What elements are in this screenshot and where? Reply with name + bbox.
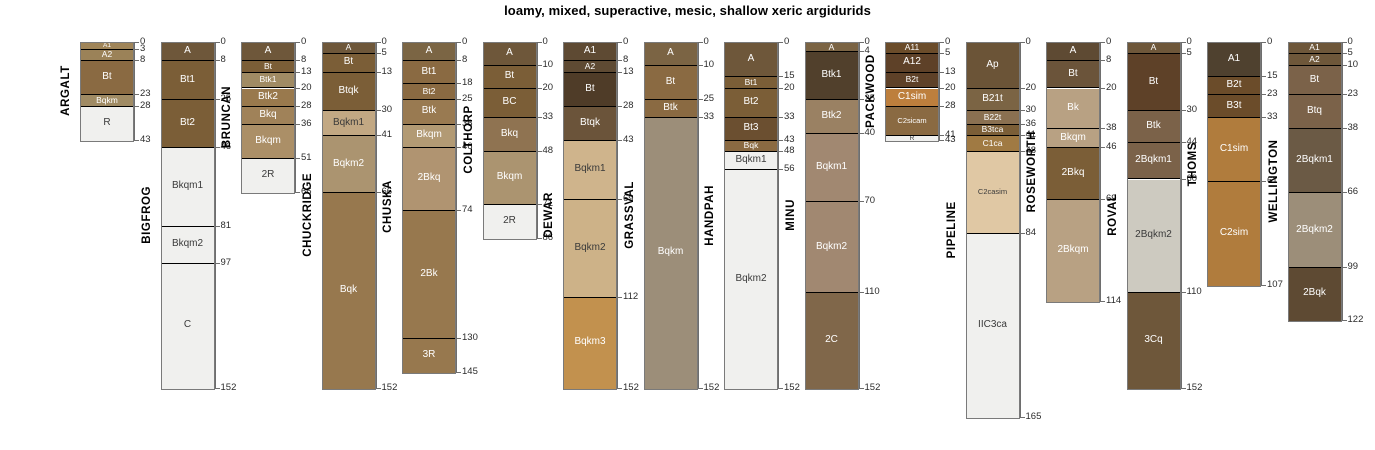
- soil-horizon: 3Cq: [1128, 293, 1180, 389]
- depth-tick: [698, 65, 703, 66]
- depth-tick: [778, 42, 783, 43]
- soil-horizon: 2C: [806, 293, 858, 389]
- depth-tick: [1020, 151, 1025, 152]
- depth-axis: [1181, 42, 1182, 388]
- horizon-label: Bkqm: [484, 172, 536, 182]
- soil-horizon: Bqk: [725, 141, 777, 152]
- soil-horizon: Btk2: [242, 89, 294, 107]
- horizon-label: Bt1: [725, 78, 777, 87]
- depth-tick: [295, 124, 300, 125]
- depth-tick: [537, 204, 542, 205]
- depth-tick: [859, 51, 864, 52]
- soil-horizon: A: [162, 43, 214, 61]
- depth-tick: [939, 135, 944, 136]
- horizon-label: A1: [81, 43, 133, 50]
- profile-column: ABt1Bt2Bt3BqkBqkm1Bqkm2: [724, 42, 778, 390]
- profile-name-label: CHUSKA: [382, 42, 394, 372]
- soil-horizon: B2t: [886, 73, 938, 89]
- depth-tick: [617, 297, 622, 298]
- soil-horizon: Bkqm: [1047, 129, 1099, 147]
- depth-tick: [295, 60, 300, 61]
- soil-horizon: B21t: [967, 89, 1019, 112]
- horizon-label: Btq: [1289, 106, 1341, 116]
- soil-horizon: BC: [484, 89, 536, 119]
- horizon-label: Bt2: [403, 87, 455, 96]
- depth-tick: [134, 94, 139, 95]
- soil-horizon: C2sicam: [886, 107, 938, 137]
- depth-tick: [1342, 192, 1347, 193]
- horizon-label: B21t: [967, 94, 1019, 104]
- depth-tick: [456, 124, 461, 125]
- profile-name-label: MINU: [785, 42, 797, 388]
- horizon-label: C: [162, 320, 214, 330]
- depth-tick: [1261, 181, 1266, 182]
- depth-axis: [537, 42, 538, 238]
- profile-column: ABtBkBkqm2Bkq2Bkqm: [1046, 42, 1100, 303]
- depth-tick: [215, 60, 220, 61]
- horizon-label: 2R: [484, 216, 536, 226]
- depth-tick: [939, 140, 944, 141]
- depth-tick: [1342, 94, 1347, 95]
- soil-horizon: Bkq: [484, 118, 536, 152]
- horizon-label: Bt: [645, 77, 697, 87]
- depth-tick: [939, 88, 944, 89]
- soil-horizon: C1sim: [886, 89, 938, 107]
- soil-horizon: A2: [1289, 54, 1341, 65]
- depth-tick: [456, 99, 461, 100]
- horizon-label: 2Bqkm1: [1128, 155, 1180, 165]
- soil-horizon: Bqkm2: [806, 202, 858, 293]
- profile-name-label: ROVAL: [1107, 42, 1119, 388]
- soil-horizon: A: [484, 43, 536, 66]
- horizon-label: Ap: [967, 60, 1019, 70]
- soil-horizon: Bk: [1047, 89, 1099, 130]
- soil-horizon: Bt3: [725, 118, 777, 141]
- horizon-label: A: [242, 46, 294, 56]
- horizon-label: Bqkm1: [323, 118, 375, 128]
- soil-horizon: A11: [886, 43, 938, 54]
- depth-tick-label: 165: [1026, 412, 1042, 422]
- soil-horizon: Bt2: [725, 89, 777, 119]
- depth-tick: [295, 158, 300, 159]
- depth-tick: [215, 263, 220, 264]
- depth-tick: [939, 42, 944, 43]
- depth-tick-label: 110: [865, 287, 880, 297]
- horizon-label: Bt3: [725, 123, 777, 133]
- soil-horizon: Bqkm: [645, 118, 697, 389]
- horizon-label: C1sim: [1208, 144, 1260, 154]
- soil-horizon: 2Bkq: [403, 148, 455, 212]
- profile-column: ABtBtqkBqkm1Bqkm2Bqk: [322, 42, 376, 390]
- horizon-label: A: [403, 46, 455, 56]
- horizon-label: Bt: [242, 62, 294, 71]
- horizon-label: BC: [484, 97, 536, 107]
- soil-horizon: R: [886, 136, 938, 141]
- soil-horizon: B22t: [967, 111, 1019, 125]
- horizon-label: R: [81, 118, 133, 128]
- horizon-label: B2t: [886, 75, 938, 84]
- depth-tick: [1342, 53, 1347, 54]
- horizon-label: A: [323, 43, 375, 52]
- horizon-label: A: [645, 48, 697, 58]
- depth-tick: [134, 106, 139, 107]
- horizon-label: Bkqm2: [162, 239, 214, 249]
- horizon-label: 2Bqkm2: [1289, 225, 1341, 235]
- depth-tick-label: 5: [1348, 48, 1353, 58]
- soil-horizon: Bqkm1: [806, 134, 858, 202]
- soil-horizon: Bkqm2: [162, 227, 214, 263]
- profile-name-label: DEWAR: [543, 42, 555, 388]
- horizon-label: A2: [81, 50, 133, 59]
- profile-name-label: WELLINGTON: [1268, 42, 1280, 320]
- horizon-label: A: [484, 48, 536, 58]
- horizon-label: A1: [1208, 54, 1260, 64]
- depth-tick: [778, 117, 783, 118]
- soil-horizon: 2Bqk: [1289, 268, 1341, 320]
- depth-tick: [1261, 42, 1266, 43]
- depth-tick: [698, 99, 703, 100]
- soil-horizon: A: [242, 43, 294, 61]
- soil-horizon: 2Bk: [403, 211, 455, 338]
- depth-tick: [1261, 76, 1266, 77]
- profile-column: A1A2BtBtqkBqkm1Bqkm2Bqkm3: [563, 42, 617, 390]
- soil-horizon: B2t: [1208, 77, 1260, 95]
- depth-axis: [1342, 42, 1343, 320]
- depth-tick: [1342, 267, 1347, 268]
- profile-column: ABtBtk1Btk2BkqBkqm2R: [241, 42, 295, 194]
- soil-horizon: A: [1128, 43, 1180, 54]
- depth-tick-label: 70: [865, 196, 876, 206]
- horizon-label: 2C: [806, 335, 858, 345]
- depth-tick: [617, 72, 622, 73]
- soil-horizon: Bt1: [162, 61, 214, 100]
- horizon-label: Bkqm: [1047, 133, 1099, 143]
- profile-column: ABt1Bt2BtkBkqm2Bkq2Bk3R: [402, 42, 456, 374]
- depth-tick: [1261, 285, 1266, 286]
- depth-tick: [376, 388, 381, 389]
- depth-tick-label: 152: [382, 383, 398, 393]
- soil-horizon: C2casim: [967, 152, 1019, 234]
- horizon-label: Btk2: [806, 111, 858, 121]
- depth-tick: [859, 133, 864, 134]
- depth-tick: [859, 99, 864, 100]
- depth-tick-label: 152: [221, 383, 237, 393]
- depth-tick: [1020, 233, 1025, 234]
- depth-tick: [537, 151, 542, 152]
- depth-tick: [456, 147, 461, 148]
- horizon-label: Bqkm1: [725, 155, 777, 165]
- soil-horizon: C2sim: [1208, 182, 1260, 287]
- horizon-label: Bt: [81, 72, 133, 82]
- soil-horizon: A: [806, 43, 858, 52]
- soil-horizon: 3R: [403, 339, 455, 373]
- soil-horizon: 2Bqkm2: [1128, 180, 1180, 294]
- soil-horizon: Bkqm: [484, 152, 536, 204]
- depth-tick-label: 145: [462, 367, 478, 377]
- depth-tick: [1181, 292, 1186, 293]
- depth-axis: [456, 42, 457, 372]
- profile-name-label: BRUNCAN: [221, 42, 233, 192]
- depth-tick: [1020, 110, 1025, 111]
- horizon-label: A1: [564, 46, 616, 56]
- horizon-label: Btqk: [564, 118, 616, 128]
- profile-name-label: BIGFROG: [141, 42, 153, 388]
- depth-axis: [1100, 42, 1101, 301]
- depth-axis: [698, 42, 699, 388]
- profile-column: A1A2BtBqkmR: [80, 42, 134, 142]
- depth-tick: [295, 106, 300, 107]
- horizon-label: Btk1: [806, 70, 858, 80]
- depth-tick: [778, 169, 783, 170]
- soil-horizon: Bkq: [242, 107, 294, 125]
- horizon-label: A: [162, 46, 214, 56]
- depth-axis: [778, 42, 779, 388]
- horizon-label: B3t: [1208, 101, 1260, 111]
- depth-tick: [1100, 199, 1105, 200]
- profile-column: A1B2tB3tC1simC2sim: [1207, 42, 1261, 287]
- soil-horizon: 2Bkqm: [1047, 200, 1099, 302]
- profile-name-label: ROSEWORTH: [1026, 42, 1038, 301]
- soil-horizon: A2: [564, 61, 616, 72]
- soil-horizon: Bt: [323, 54, 375, 72]
- depth-tick: [778, 76, 783, 77]
- depth-tick: [1261, 94, 1266, 95]
- soil-horizon: 2R: [242, 159, 294, 193]
- soil-horizon: Bqkm3: [564, 298, 616, 389]
- soil-horizon: Bt1: [725, 77, 777, 88]
- soil-horizon: Bt2: [403, 84, 455, 100]
- depth-tick-label: 66: [1348, 187, 1359, 197]
- profile-column: A1A2BtBtq2Bqkm12Bqkm22Bqk: [1288, 42, 1342, 322]
- profile-name-label: PACKWOOD: [865, 42, 877, 140]
- depth-tick: [456, 372, 461, 373]
- horizon-label: Bt: [1047, 69, 1099, 79]
- horizon-label: C2casim: [967, 188, 1019, 196]
- soil-horizon: Btk1: [242, 73, 294, 89]
- depth-tick: [537, 117, 542, 118]
- horizon-label: 2Bqkm1: [1289, 155, 1341, 165]
- depth-tick: [1020, 124, 1025, 125]
- depth-tick: [376, 53, 381, 54]
- horizon-label: A: [1047, 46, 1099, 56]
- soil-horizon: Btqk: [323, 73, 375, 112]
- soil-horizon: Ap: [967, 43, 1019, 89]
- depth-axis: [1020, 42, 1021, 417]
- depth-tick: [295, 88, 300, 89]
- horizon-label: 2Bkq: [1047, 168, 1099, 178]
- depth-tick: [456, 210, 461, 211]
- soil-horizon: Bt: [645, 66, 697, 100]
- depth-tick: [698, 117, 703, 118]
- horizon-label: C1ca: [967, 139, 1019, 148]
- horizon-label: Bt: [1289, 75, 1341, 85]
- horizon-label: Bkqm1: [162, 181, 214, 191]
- soil-horizon: Bqkm2: [564, 200, 616, 298]
- horizon-label: Btk2: [242, 92, 294, 102]
- depth-tick: [617, 106, 622, 107]
- horizon-label: IIC3ca: [967, 320, 1019, 330]
- horizon-label: A: [1128, 43, 1180, 52]
- depth-tick-label: 152: [1187, 383, 1203, 393]
- depth-tick-label: 23: [1348, 89, 1359, 99]
- profile-name-label: ARGALT: [60, 42, 72, 140]
- soil-horizon: Bt1: [403, 61, 455, 84]
- depth-tick: [215, 226, 220, 227]
- depth-tick: [1342, 65, 1347, 66]
- soil-horizon: Btqk: [564, 107, 616, 141]
- horizon-label: Bt2: [162, 118, 214, 128]
- soil-horizon: Bt: [564, 73, 616, 107]
- depth-axis: [939, 42, 940, 140]
- horizon-label: C2sicam: [886, 117, 938, 125]
- depth-tick: [215, 147, 220, 148]
- horizon-label: A2: [564, 62, 616, 71]
- horizon-label: 2Bqk: [1289, 288, 1341, 298]
- horizon-label: Bt1: [162, 75, 214, 85]
- profile-column: ABtk1Btk2Bqkm1Bqkm22C: [805, 42, 859, 390]
- profile-name-label: HANDPAH: [704, 42, 716, 388]
- depth-tick: [1020, 417, 1025, 418]
- horizon-label: A: [806, 43, 858, 52]
- horizon-label: B2t: [1208, 80, 1260, 90]
- depth-tick: [215, 388, 220, 389]
- depth-axis: [1261, 42, 1262, 285]
- soil-horizon: A: [645, 43, 697, 66]
- profile-column: ABtBtkBqkm: [644, 42, 698, 390]
- depth-tick: [456, 83, 461, 84]
- profile-name-label: CHUCKRIDGE: [302, 42, 314, 388]
- soil-horizon: Btk1: [806, 52, 858, 100]
- soil-horizon: Bt: [484, 66, 536, 89]
- depth-tick: [1100, 42, 1105, 43]
- soil-horizon: Bt: [81, 61, 133, 95]
- soil-horizon: A1: [564, 43, 616, 61]
- soil-horizon: 2Bkq: [1047, 148, 1099, 200]
- depth-tick: [134, 42, 139, 43]
- horizon-label: R: [886, 136, 938, 141]
- horizon-label: Bqkm2: [806, 242, 858, 252]
- soil-horizon: A1: [1208, 43, 1260, 77]
- depth-axis: [376, 42, 377, 388]
- horizon-label: Bqkm2: [564, 243, 616, 253]
- depth-tick: [376, 110, 381, 111]
- soil-horizon: 2Bqkm1: [1128, 143, 1180, 179]
- depth-tick: [537, 65, 542, 66]
- soil-horizon: 2R: [484, 205, 536, 239]
- soil-horizon: C1ca: [967, 136, 1019, 152]
- horizon-label: 2Bk: [403, 269, 455, 279]
- horizon-label: 3Cq: [1128, 335, 1180, 345]
- horizon-label: Bt: [484, 71, 536, 81]
- horizon-label: Bkq: [242, 110, 294, 120]
- depth-tick: [134, 60, 139, 61]
- horizon-label: Bkqm: [242, 136, 294, 146]
- depth-tick: [1100, 60, 1105, 61]
- profile-column: ABtBCBkqBkqm2R: [483, 42, 537, 240]
- horizon-label: Bt1: [403, 67, 455, 77]
- soil-horizon: Bkqm: [242, 125, 294, 159]
- horizon-label: Btk: [1128, 121, 1180, 131]
- profile-column: A11A12B2tC1simC2sicamR: [885, 42, 939, 142]
- depth-tick: [134, 140, 139, 141]
- soil-horizon: Bqkm2: [725, 170, 777, 388]
- soil-horizon: A1: [1289, 43, 1341, 54]
- soil-horizon: Bkqm1: [162, 148, 214, 228]
- profile-name-label: PIPELINE: [946, 42, 958, 417]
- soil-horizon: A12: [886, 54, 938, 72]
- horizon-label: Bqkm2: [323, 159, 375, 169]
- depth-tick-label: 130: [462, 333, 478, 343]
- depth-tick: [698, 42, 703, 43]
- soil-horizon: Btk: [645, 100, 697, 118]
- depth-tick: [617, 388, 622, 389]
- soil-horizon: Bt: [1128, 54, 1180, 111]
- horizon-label: Bkq: [484, 129, 536, 139]
- depth-tick: [1100, 301, 1105, 302]
- depth-tick-label: 122: [1348, 315, 1364, 325]
- depth-tick: [376, 42, 381, 43]
- depth-tick: [376, 72, 381, 73]
- horizon-label: 2Bqkm2: [1128, 230, 1180, 240]
- horizon-label: Bqkm1: [564, 164, 616, 174]
- depth-tick: [1020, 88, 1025, 89]
- horizon-label: 2R: [242, 170, 294, 180]
- depth-tick: [778, 388, 783, 389]
- depth-axis: [215, 42, 216, 388]
- horizon-label: Bqkm: [81, 96, 133, 105]
- soil-horizon: Bqkm1: [564, 141, 616, 200]
- depth-tick: [456, 338, 461, 339]
- depth-tick: [1261, 117, 1266, 118]
- soil-horizon: A: [403, 43, 455, 61]
- depth-tick: [537, 88, 542, 89]
- soil-horizon: Bqkm2: [323, 136, 375, 193]
- horizon-label: Btqk: [323, 86, 375, 96]
- depth-tick: [617, 140, 622, 141]
- depth-tick: [939, 53, 944, 54]
- horizon-label: C2sim: [1208, 228, 1260, 238]
- horizon-label: Btk1: [242, 75, 294, 84]
- soil-horizon: 2Bqkm2: [1289, 193, 1341, 268]
- soil-horizon: Btq: [1289, 95, 1341, 129]
- depth-axis: [859, 42, 860, 388]
- depth-tick: [939, 106, 944, 107]
- soil-profile-chart: ARGALTA1A2BtBqkmR038232843BIGFROGABt1Bt2…: [0, 0, 1375, 450]
- depth-tick: [1181, 388, 1186, 389]
- soil-horizon: A2: [81, 50, 133, 61]
- soil-horizon: Btk2: [806, 100, 858, 134]
- soil-horizon: A1: [81, 43, 133, 50]
- soil-horizon: 2Bqkm1: [1289, 129, 1341, 193]
- horizon-label: B22t: [967, 113, 1019, 122]
- depth-axis: [134, 42, 135, 140]
- horizon-label: Bk: [1047, 103, 1099, 113]
- depth-tick-label: 99: [1348, 262, 1359, 272]
- soil-horizon: Btk: [1128, 111, 1180, 143]
- depth-tick-label: 110: [1187, 287, 1202, 297]
- depth-tick-label: 81: [221, 221, 232, 231]
- depth-tick: [1181, 110, 1186, 111]
- horizon-label: 2Bkqm: [1047, 245, 1099, 255]
- soil-horizon: A: [725, 43, 777, 77]
- depth-tick: [1100, 147, 1105, 148]
- depth-tick: [1181, 179, 1186, 180]
- depth-tick: [1342, 128, 1347, 129]
- horizon-label: Bqk: [725, 141, 777, 150]
- depth-tick: [1342, 42, 1347, 43]
- depth-tick-label: 10: [1348, 60, 1359, 70]
- horizon-label: Bt: [323, 57, 375, 67]
